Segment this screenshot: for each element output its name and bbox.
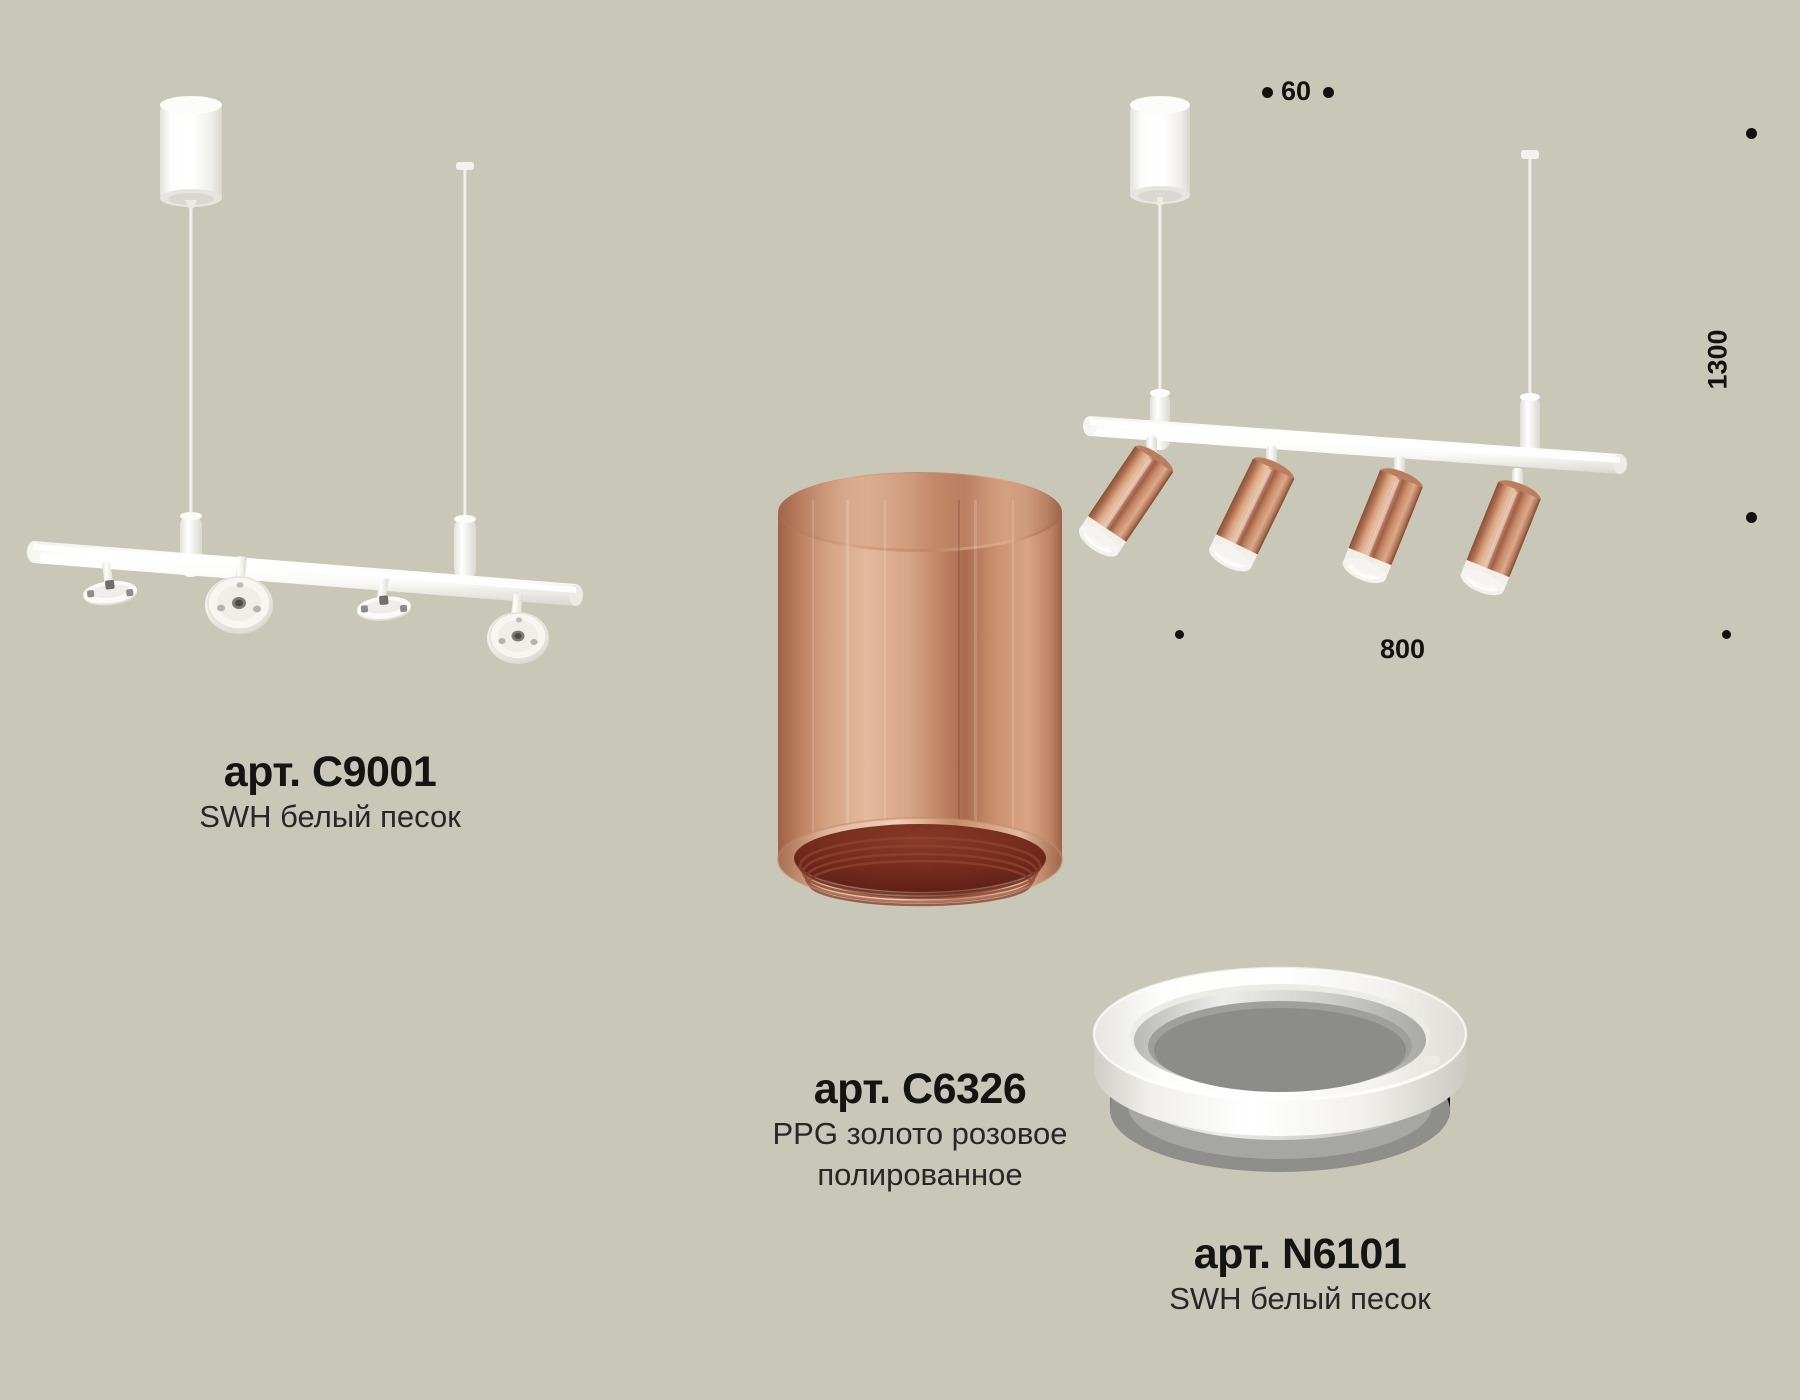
dim-dot-800-right — [1722, 630, 1731, 639]
dim-dot-1300-bottom — [1746, 512, 1757, 523]
finish-c9001: SWH белый песок — [120, 797, 540, 838]
ceiling-canopy-left — [160, 96, 222, 209]
suspension-cable-left — [189, 208, 193, 520]
dim-dot-1300-top — [1746, 128, 1757, 139]
article-code-n6101: арт. N6101 — [1090, 1230, 1510, 1279]
dim-dot-60-right — [1323, 87, 1334, 98]
ring-body — [1094, 968, 1466, 1172]
article-code-c9001: арт. C9001 — [120, 748, 540, 797]
dim-value-60: 60 — [1281, 76, 1311, 107]
assembly-stem-right — [1520, 393, 1540, 454]
dim-dot-60-left — [1262, 87, 1273, 98]
assembly-illustration — [1150, 80, 1770, 640]
spot-lamp-3 — [1339, 456, 1425, 588]
dim-dot-800-left — [1175, 630, 1184, 639]
label-n6101: арт. N6101 SWH белый песок — [1090, 1230, 1510, 1320]
cylinder-aperture — [778, 818, 1062, 905]
dim-value-1300: 1300 — [1703, 315, 1734, 405]
product-n6101-illustration — [1070, 960, 1490, 1210]
assembly-cable-right — [1521, 150, 1539, 401]
diagram-canvas: арт. C9001 SWH белый песок — [0, 0, 1800, 1400]
spot-lamp-4 — [1457, 468, 1543, 600]
spot-lamp-2 — [1205, 446, 1297, 577]
suspension-cable-right — [456, 162, 474, 522]
product-c6326-illustration — [760, 480, 1080, 920]
product-c9001-illustration — [20, 60, 680, 660]
finish-n6101: SWH белый песок — [1090, 1279, 1510, 1320]
assembly-cable-left — [1158, 204, 1162, 399]
assembly-ceiling-canopy — [1130, 96, 1190, 206]
dim-value-800: 800 — [1380, 634, 1425, 665]
track-stem-right — [454, 515, 476, 580]
spot-lamp-1 — [1074, 436, 1177, 562]
label-c9001: арт. C9001 SWH белый песок — [120, 748, 540, 838]
spot-mount-4 — [487, 594, 549, 664]
